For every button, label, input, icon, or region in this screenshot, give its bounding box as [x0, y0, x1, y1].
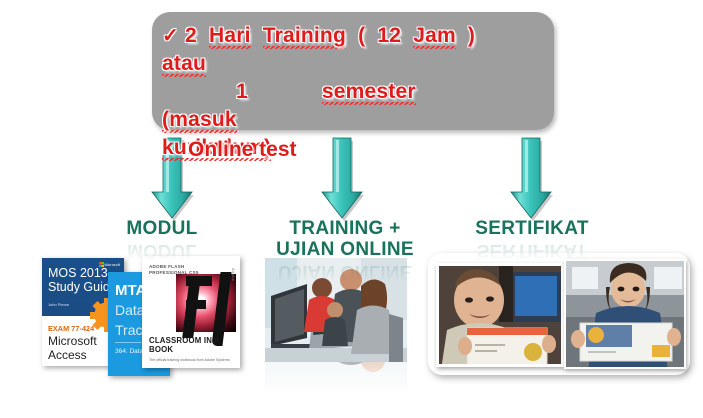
check-icon: ✓ [162, 25, 179, 47]
headline-token-paren-open: ( [358, 24, 365, 47]
label-sertifikat-reflection: SERTIFIKAT [452, 240, 612, 261]
headline-token-jam: Jam [413, 24, 456, 49]
label-training: TRAINING + UJIAN ONLINE UJIAN ONLINE [255, 218, 435, 282]
book-mos-product: Microsoft Access [48, 334, 97, 362]
certificate-photo-right [564, 259, 686, 369]
book-flash-footer: CLASSROOM IN A BOOK [149, 336, 240, 354]
certificate-photo-card [428, 253, 690, 375]
headline-token-masuk: (masuk [162, 108, 237, 133]
label-modul: MODUL MODUL [108, 218, 216, 261]
headline-token-semester: semester [322, 80, 416, 105]
flash-logo-bar-top [186, 276, 212, 286]
certificate-photo-left [436, 263, 564, 367]
headline-token-2: 2 [185, 24, 197, 47]
headline-token-atau: atau [162, 52, 206, 77]
book-mos-author: John Pierce [48, 302, 69, 307]
certification-logo-strip: Microsoft Office Specialist AADOBE CERTI… [0, 372, 703, 418]
online-test-label: Online test [188, 138, 297, 162]
label-training-line2: UJIAN ONLINE [255, 239, 435, 260]
label-modul-reflection: MODUL [108, 240, 216, 261]
book-flash-footer-sub: The official training workbook from Adob… [149, 358, 230, 362]
book-mos-exam: EXAM 77-424 [48, 324, 94, 333]
headline-token-12: 12 [377, 24, 401, 47]
book-cover-adobe-flash: ADOBE FLASH PROFESSIONAL CS5 Adobe CLASS… [142, 256, 240, 368]
label-training-reflection: UJIAN ONLINE [255, 261, 435, 282]
book-flash-spine: Adobe [231, 268, 236, 282]
headline-token-training: Training [263, 24, 346, 49]
label-sertifikat: SERTIFIKAT SERTIFIKAT [452, 218, 612, 261]
headline-token-1: 1 [236, 80, 248, 103]
book-covers-group: Microsoft MOS 2013 Study Guide John Pier… [30, 250, 260, 380]
headline-token-hari: Hari [209, 24, 251, 49]
slide-canvas: ✓ 2 Hari Training ( 12 Jam ) atau 1semes… [0, 0, 703, 418]
flash-logo-bar-mid [186, 300, 206, 309]
book-mos-title: MOS 2013 Study Guide [48, 266, 117, 294]
headline-token-paren-close: ) [468, 24, 475, 47]
